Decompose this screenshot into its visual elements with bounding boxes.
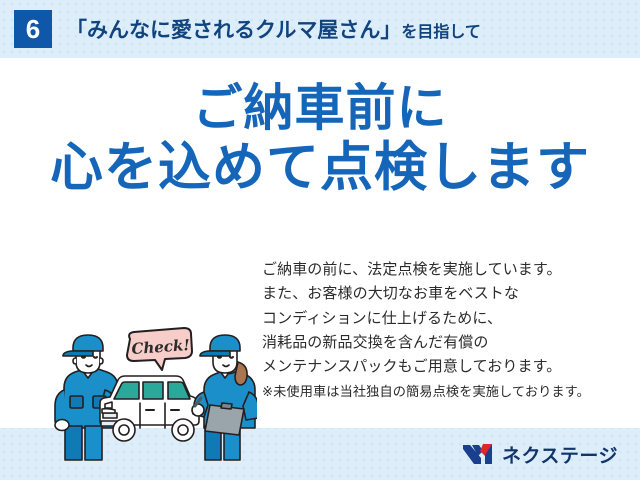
header-bar: 6 「みんなに愛されるクルマ屋さん」 を目指して xyxy=(0,0,640,58)
nextage-n-logo-icon xyxy=(461,442,495,466)
header-title-main: 「みんなに愛されるクルマ屋さん」 xyxy=(66,14,401,44)
headline-line-1: ご納車前に xyxy=(0,80,640,136)
body-line-1: ご納車の前に、法定点検を実施しています。 xyxy=(262,258,634,282)
body-line-4: 消耗品の新品交換を含んだ有償の xyxy=(262,331,634,355)
brand-logo: ネクステージ xyxy=(461,441,618,468)
header-title: 「みんなに愛されるクルマ屋さん」 を目指して xyxy=(66,14,481,44)
body-line-3: コンディションに仕上げるために、 xyxy=(262,307,634,331)
promo-page: 6 「みんなに愛されるクルマ屋さん」 を目指して ご納車前に 心を込めて点検しま… xyxy=(0,0,640,480)
page-title: ご納車前に 心を込めて点検します xyxy=(0,80,640,197)
section-number-badge: 6 xyxy=(14,10,52,48)
content-panel: ご納車前に 心を込めて点検します ご納車の前に、法定点検を実施しています。 また… xyxy=(0,58,640,428)
header-title-sub: を目指して xyxy=(401,18,481,42)
body-footnote: ※未使用車は当社独自の簡易点検を実施しております。 xyxy=(262,381,634,402)
body-line-2: また、お客様の大切なお車をベストな xyxy=(262,282,634,306)
headline-line-2: 心を込めて点検します xyxy=(0,138,640,197)
body-line-5: メンテナンスパックもご用意しております。 xyxy=(262,355,634,379)
footer-bar: ネクステージ xyxy=(0,428,640,480)
brand-name: ネクステージ xyxy=(502,441,618,468)
body-copy: ご納車の前に、法定点検を実施しています。 また、お客様の大切なお車をベストな コ… xyxy=(262,258,634,403)
